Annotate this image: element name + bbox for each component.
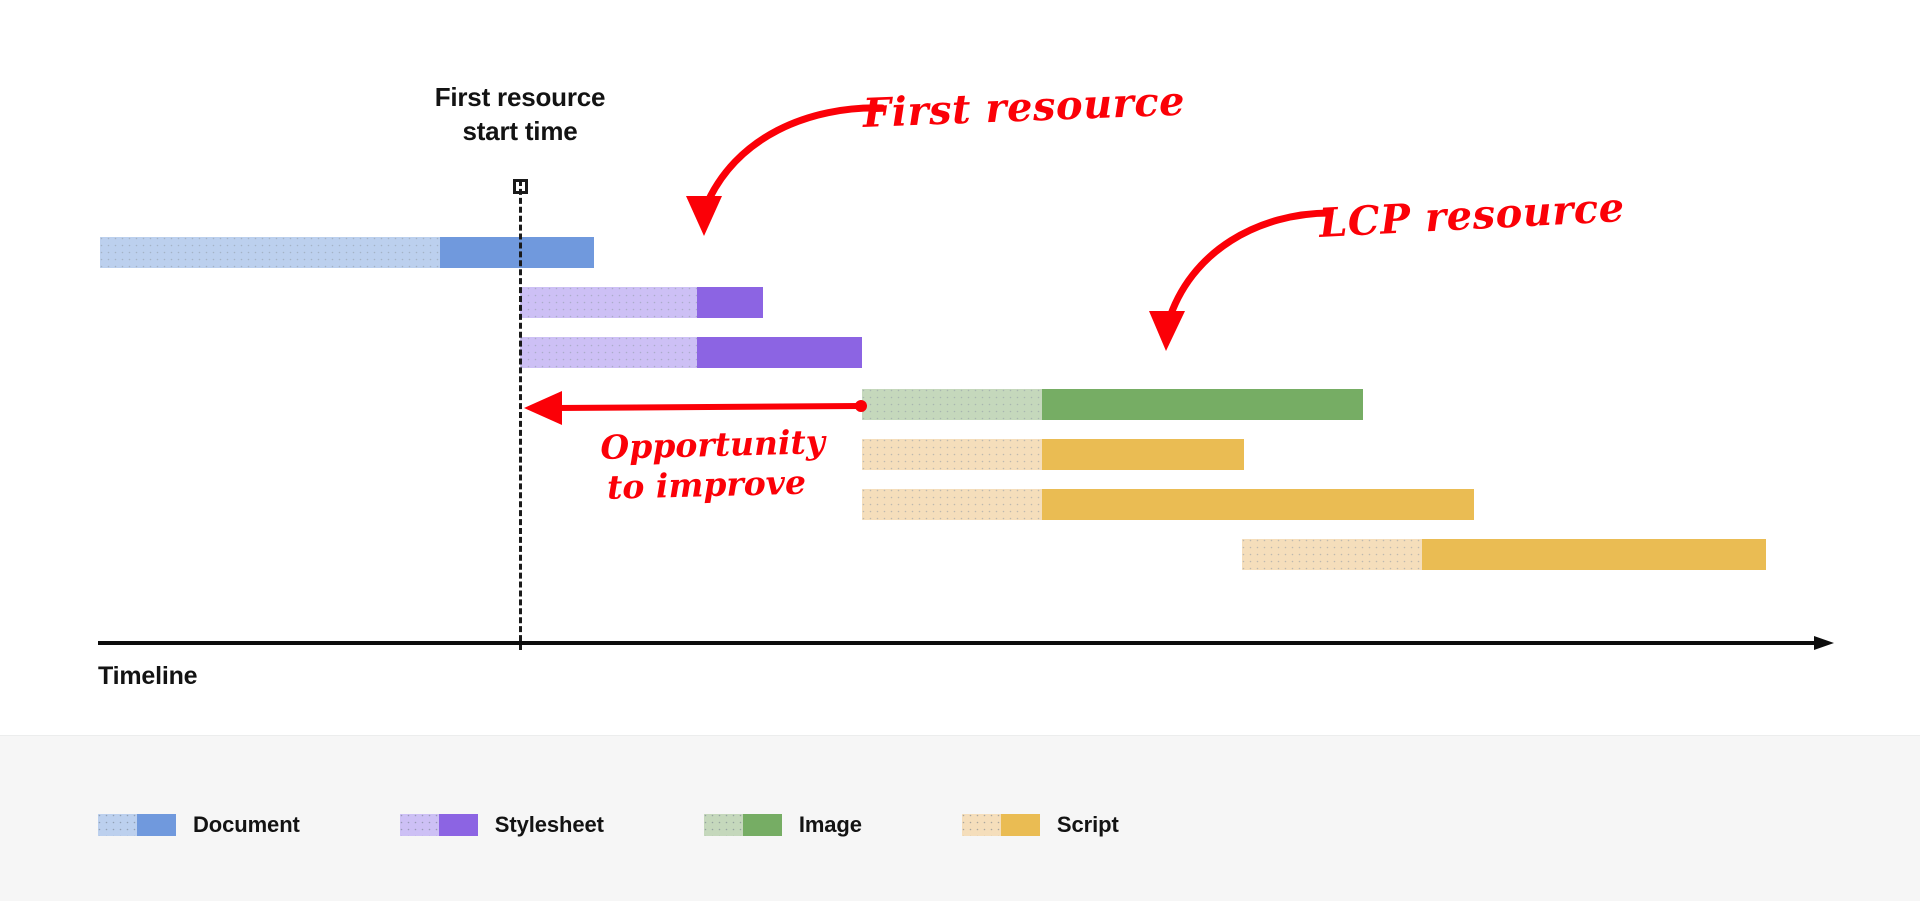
timeline-axis (98, 636, 1838, 650)
opportunity-annotation-text: Opportunity to improve (600, 423, 812, 508)
resource-bar-download-segment (1042, 489, 1474, 520)
legend-swatch-dark-half (1001, 814, 1040, 836)
legend-label: Document (193, 812, 300, 838)
legend-item-document[interactable]: Document (98, 812, 300, 838)
resource-bar-stylesheet-2[interactable] (520, 337, 862, 368)
timeline-axis-arrow-icon (1814, 636, 1834, 650)
resource-bar-script-4[interactable] (862, 439, 1244, 470)
first-resource-marker-line (519, 180, 522, 650)
legend-item-stylesheet[interactable]: Stylesheet (400, 812, 604, 838)
marker-caption-line-1: First resource (370, 80, 670, 114)
resource-bar-script-5[interactable] (862, 489, 1474, 520)
timeline-axis-label: Timeline (98, 662, 197, 691)
chart-plot-area: First resource start time First resource… (0, 0, 1920, 735)
legend-item-script[interactable]: Script (962, 812, 1119, 838)
resource-bar-download-segment (1042, 389, 1363, 420)
legend-swatch-dark-half (439, 814, 478, 836)
resource-bar-wait-segment (100, 237, 440, 268)
resource-bar-stylesheet-1[interactable] (520, 287, 763, 318)
legend-swatch-script (962, 814, 1040, 836)
resource-bar-download-segment (440, 237, 594, 268)
opportunity-annotation-line-2: to improve (607, 462, 807, 506)
lcp-resource-annotation-arrow-icon (1130, 205, 1340, 355)
first-resource-annotation-arrow-icon (660, 100, 890, 240)
marker-caption-line-2: start time (370, 114, 670, 148)
legend-swatch-image (704, 814, 782, 836)
first-resource-start-time-label: First resource start time (370, 80, 670, 148)
legend-swatch-light-half (962, 814, 1001, 836)
resource-bar-image-3[interactable] (862, 389, 1363, 420)
resource-bar-wait-segment (862, 439, 1042, 470)
timeline-axis-line (98, 641, 1818, 645)
legend-label: Image (799, 812, 862, 838)
legend-swatch-light-half (98, 814, 137, 836)
legend-swatch-light-half (704, 814, 743, 836)
legend: DocumentStylesheetImageScript (0, 735, 1920, 901)
legend-swatch-dark-half (137, 814, 176, 836)
resource-bar-wait-segment (1242, 539, 1422, 570)
first-resource-annotation-text: First resource (862, 78, 1186, 137)
legend-swatch-document (98, 814, 176, 836)
legend-label: Script (1057, 812, 1119, 838)
legend-swatch-light-half (400, 814, 439, 836)
legend-swatch-stylesheet (400, 814, 478, 836)
resource-bar-download-segment (697, 287, 763, 318)
resource-bar-wait-segment (862, 489, 1042, 520)
legend-label: Stylesheet (495, 812, 604, 838)
legend-swatch-dark-half (743, 814, 782, 836)
resource-bar-wait-segment (520, 287, 697, 318)
resource-bar-wait-segment (520, 337, 697, 368)
resource-bar-download-segment (1422, 539, 1766, 570)
opportunity-annotation-line-1: Opportunity (600, 422, 825, 467)
waterfall-chart-figure: First resource start time First resource… (0, 0, 1920, 900)
legend-item-image[interactable]: Image (704, 812, 862, 838)
legend-items: DocumentStylesheetImageScript (98, 812, 1219, 838)
lcp-resource-annotation-text: LCP resource (1318, 184, 1626, 247)
resource-bar-download-segment (697, 337, 862, 368)
resource-bar-wait-segment (862, 389, 1042, 420)
resource-bar-script-6[interactable] (1242, 539, 1766, 570)
resource-bar-download-segment (1042, 439, 1244, 470)
